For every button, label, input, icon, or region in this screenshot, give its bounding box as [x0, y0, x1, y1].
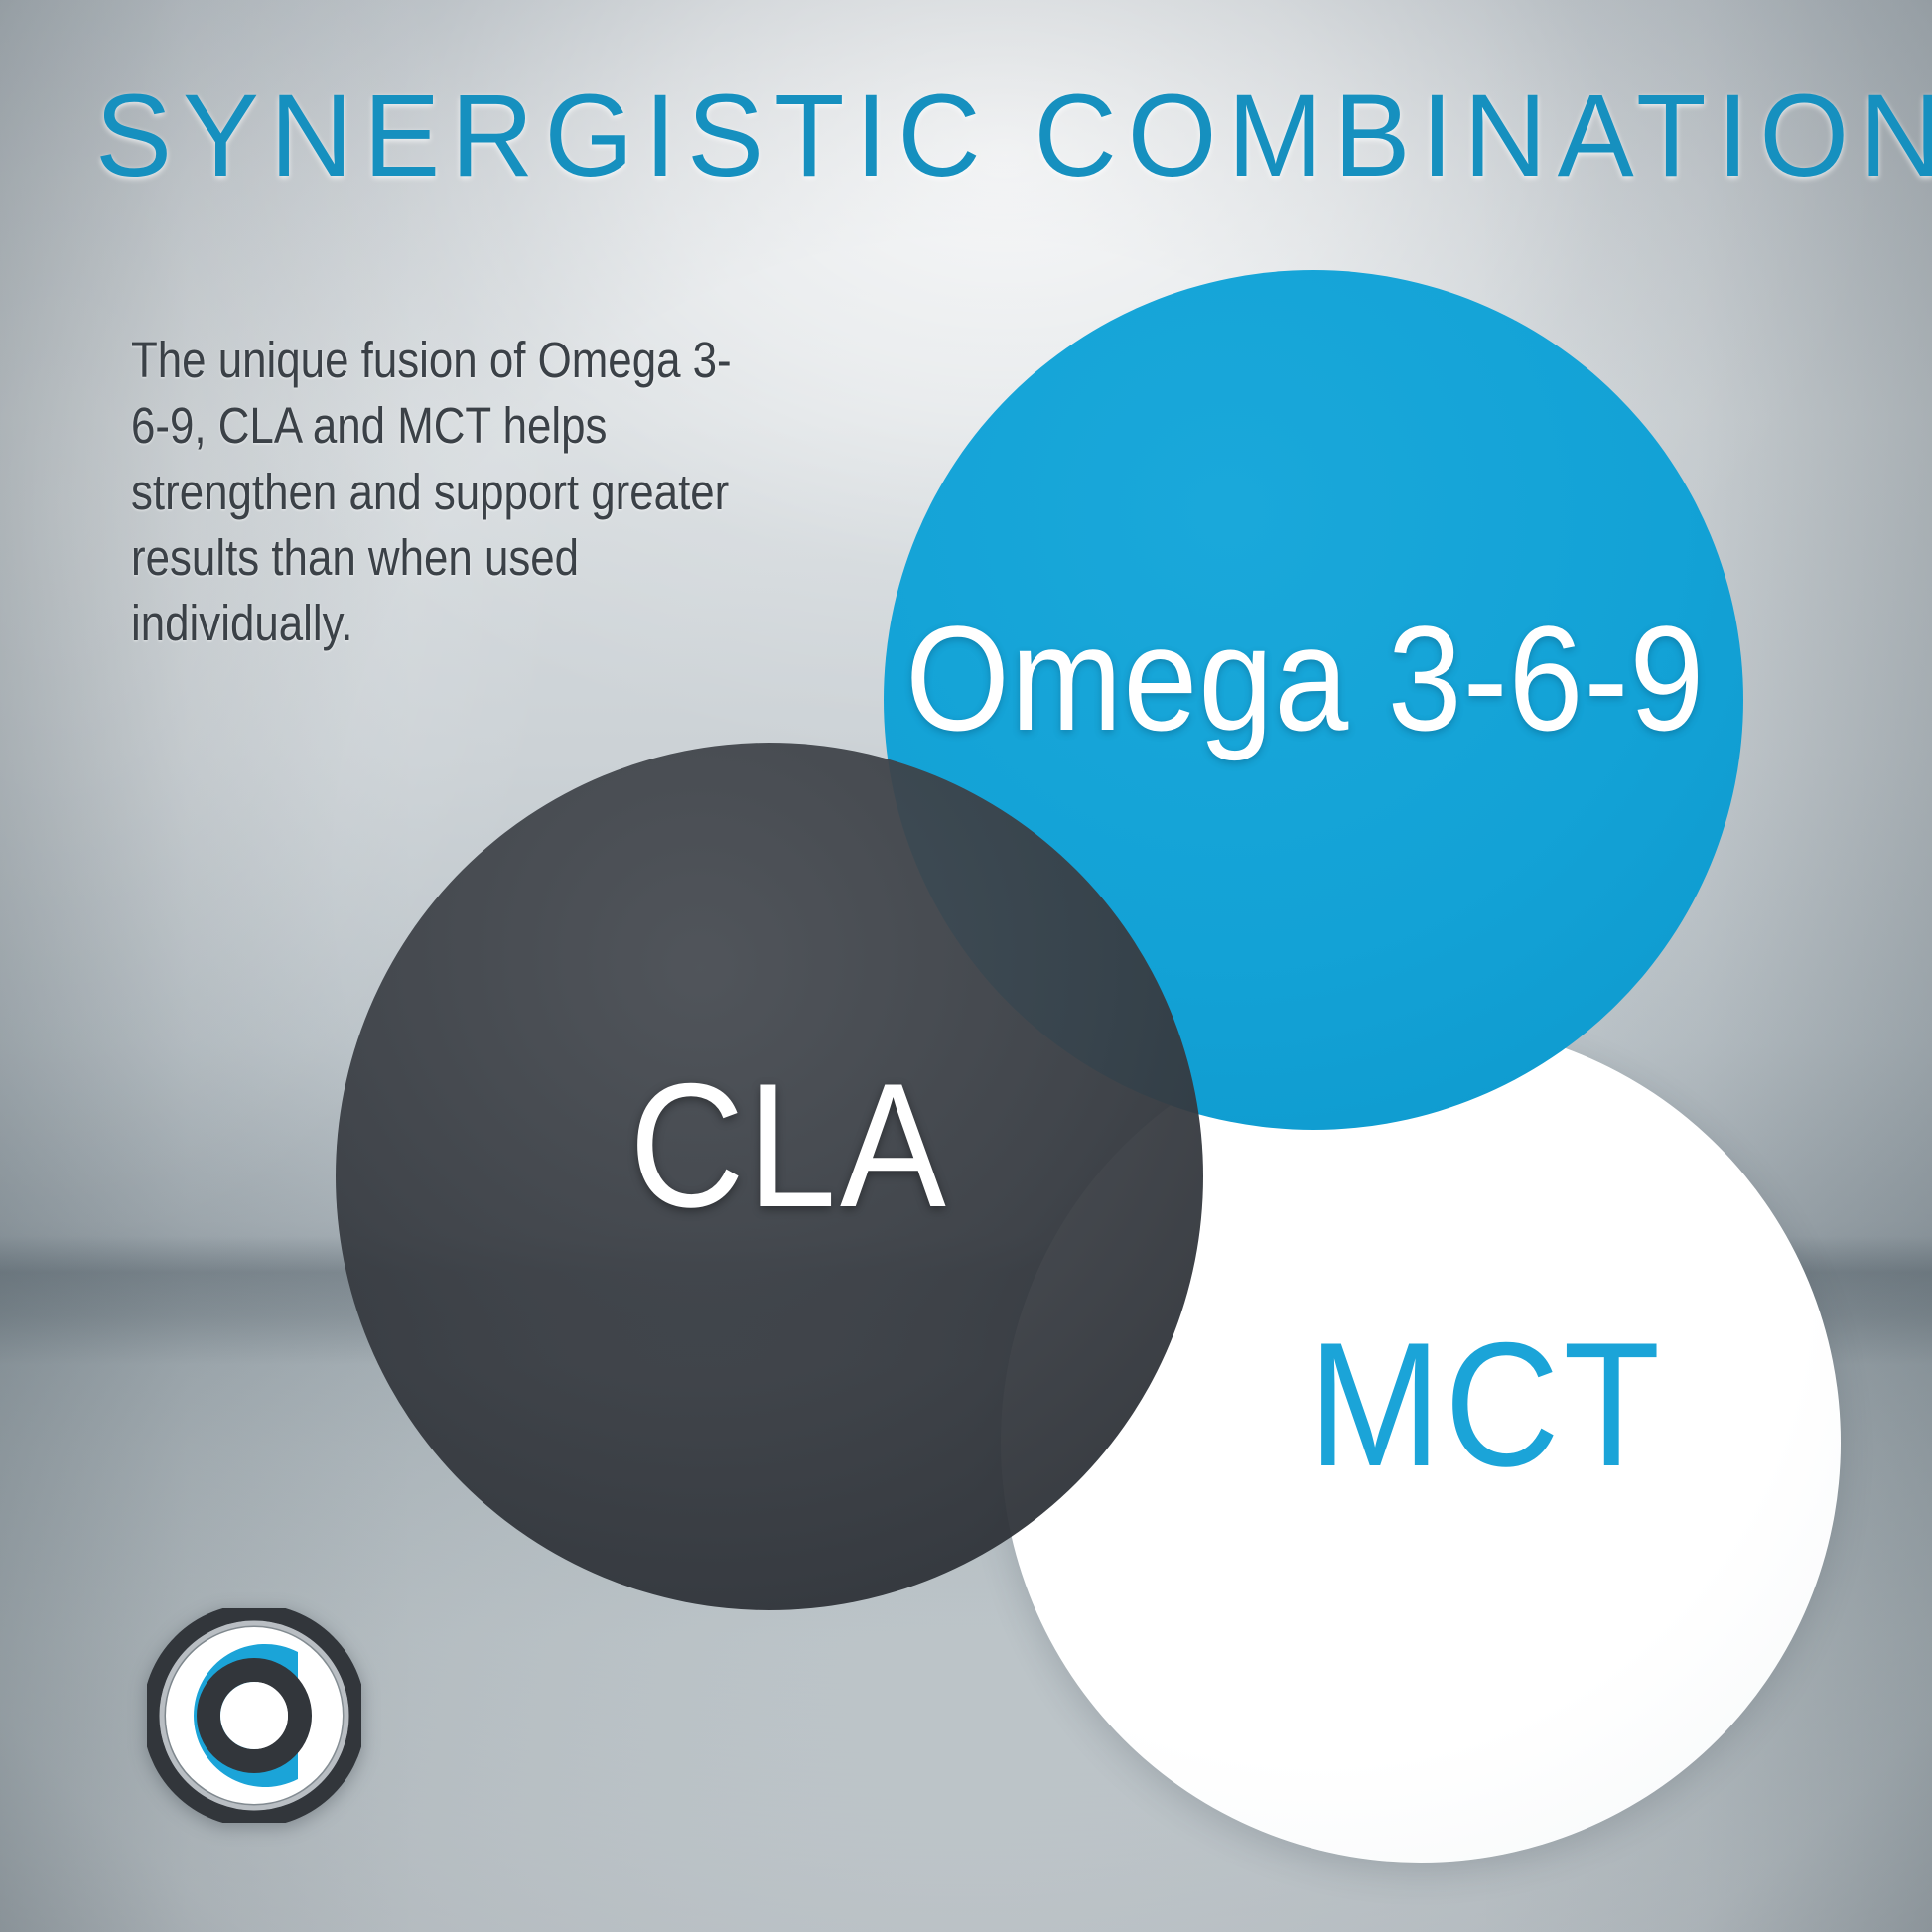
infographic-canvas: SYNERGISTIC COMBINATION The unique fusio…: [0, 0, 1932, 1932]
venn-label-cla: CLA: [629, 1057, 949, 1234]
brand-logo-icon[interactable]: [147, 1608, 361, 1823]
venn-label-mct: MCT: [1309, 1316, 1664, 1493]
venn-label-omega: Omega 3-6-9: [905, 604, 1705, 753]
